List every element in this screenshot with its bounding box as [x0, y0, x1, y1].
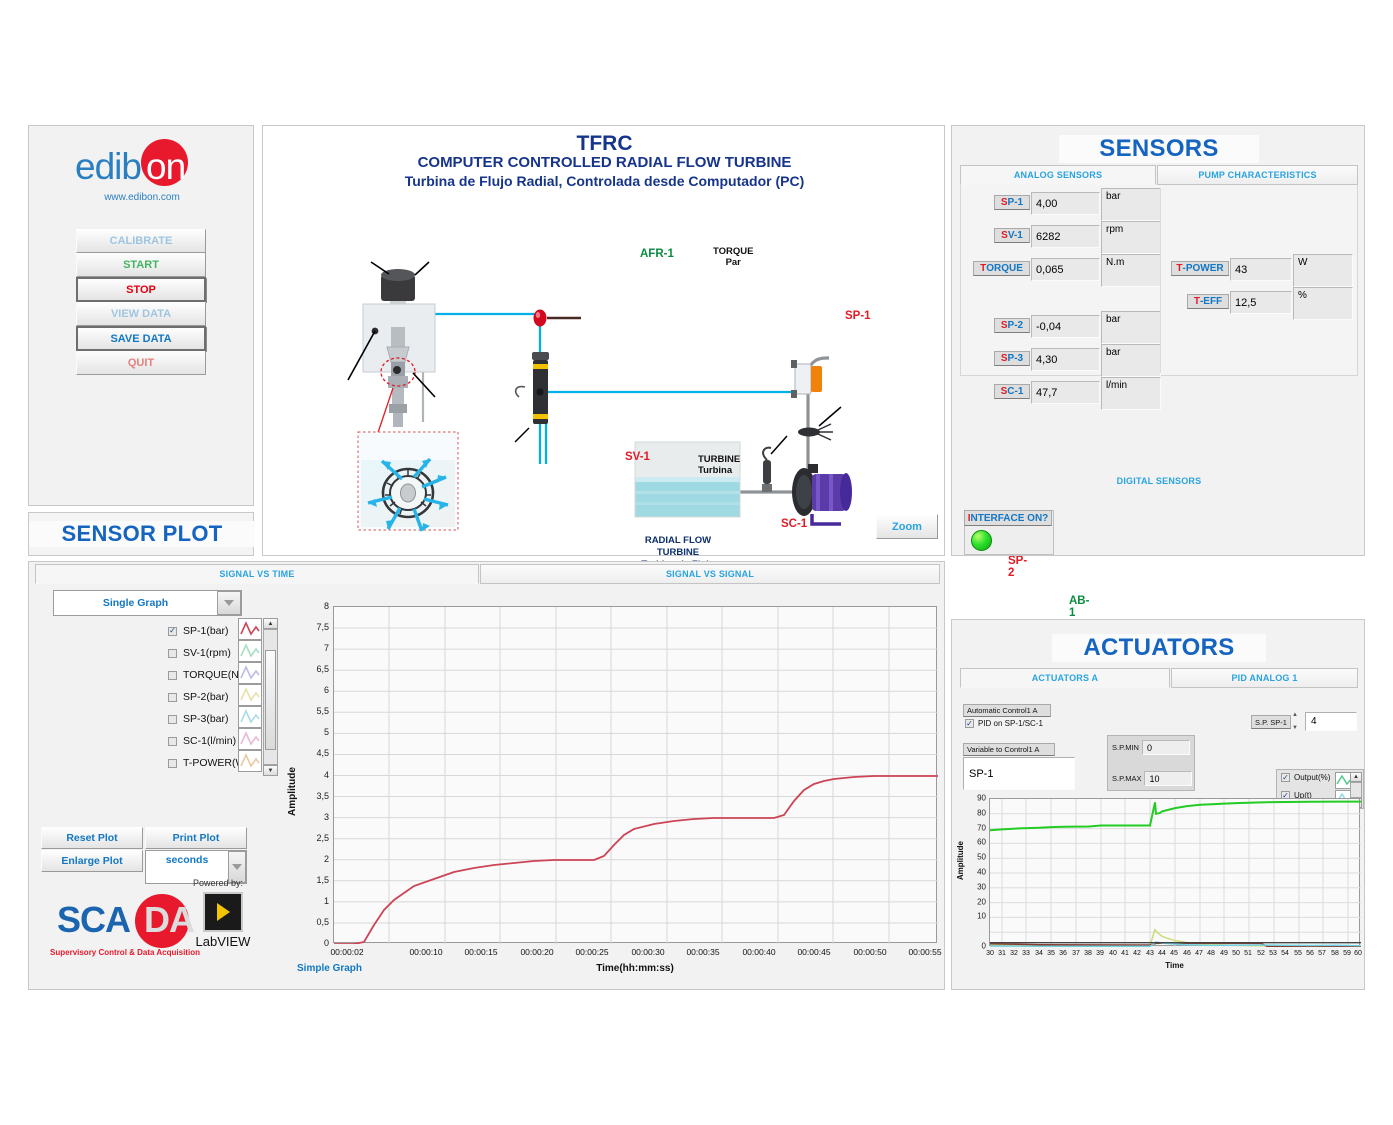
setpoint-value[interactable]: 4 [1305, 712, 1357, 731]
label-turbine: TURBINE Turbina [698, 454, 740, 476]
sp-max-row: S.P.MAX 10 [1112, 771, 1192, 786]
diagram-title: TFRC [263, 132, 946, 156]
sensor-unit-tpower: W [1293, 254, 1353, 287]
setpoint-label: S.P. SP-1 [1251, 715, 1291, 729]
legend-checkbox-torque[interactable] [168, 671, 177, 680]
label-ab1: AB-1 [1069, 595, 1089, 619]
view-data-button[interactable]: VIEW DATA [76, 302, 206, 326]
legend-label: Output(%) [1294, 773, 1330, 782]
setpoint-control: S.P. SP-1 ▲ ▼ 4 [1251, 712, 1357, 732]
sensor-unit-teff: % [1293, 287, 1353, 320]
sensors-panel: SENSORS ANALOG SENSORS PUMP CHARACTERIST… [951, 125, 1365, 556]
actuator-legend-scroll-up-arrow-icon[interactable]: ▲ [1350, 772, 1362, 782]
xtick: 00:00:30 [631, 947, 664, 957]
ytick: 0 [324, 938, 329, 948]
sensor-value-sp3: 4,30 [1031, 348, 1100, 371]
quit-button-label: QUIT [128, 357, 154, 369]
legend-color-swatches [238, 618, 262, 776]
reset-plot-button[interactable]: Reset Plot [41, 827, 143, 849]
ytick: 7,5 [316, 622, 329, 632]
xtick: 56 [1306, 950, 1314, 957]
xtick: 00:00:50 [853, 947, 886, 957]
labview-label: LabVIEW [189, 934, 257, 949]
label-torque-es: Par [713, 257, 753, 268]
xtick: 44 [1158, 950, 1166, 957]
start-button-label: START [123, 259, 159, 271]
scada-logo-text-sca: SCA [57, 899, 130, 941]
xtick: 38 [1084, 950, 1092, 957]
ytick: 80 [977, 809, 986, 818]
xtick: 57 [1318, 950, 1326, 957]
xtick: 00:00:10 [409, 947, 442, 957]
tab-pid-analog-1[interactable]: PID ANALOG 1 [1171, 668, 1358, 688]
sensor-unit-sc1: l/min [1101, 377, 1161, 410]
setpoint-limits-group: S.P.MIN 0 S.P.MAX 10 [1107, 735, 1195, 791]
calibrate-button-label: CALIBRATE [110, 235, 173, 247]
legend-checkbox-sv1[interactable] [168, 649, 177, 658]
main-plot-area[interactable] [333, 606, 937, 943]
save-data-button[interactable]: SAVE DATA [76, 326, 206, 351]
graph-mode-value: Single Graph [54, 591, 217, 615]
xtick: 37 [1072, 950, 1080, 957]
sp-min-value[interactable]: 0 [1142, 740, 1190, 755]
xtick: 54 [1281, 950, 1289, 957]
sensor-tag-teff: T-EFF [1187, 294, 1229, 309]
xtick: 35 [1047, 950, 1055, 957]
sensor-value-tpower: 43 [1230, 258, 1292, 281]
legend-scrollbar[interactable]: ▲ ▼ [263, 618, 278, 776]
legend-checkbox-tpower[interactable] [168, 759, 177, 768]
ytick: 90 [977, 794, 986, 803]
xtick: 52 [1257, 950, 1265, 957]
xtick: 00:00:15 [464, 947, 497, 957]
setpoint-stepper-down-icon[interactable]: ▼ [1292, 725, 1305, 732]
edibon-logo-text: edib [75, 146, 141, 188]
legend-label: SP-3(bar) [183, 713, 229, 725]
zoom-button[interactable]: Zoom [876, 514, 938, 539]
ytick: 3,5 [316, 791, 329, 801]
sensor-value-sp1: 4,00 [1031, 192, 1100, 215]
xtick: 51 [1244, 950, 1252, 957]
reset-plot-button-label: Reset Plot [66, 832, 117, 844]
print-plot-button[interactable]: Print Plot [145, 827, 247, 849]
tab-signal-vs-time-label: SIGNAL VS TIME [219, 569, 294, 579]
list-item[interactable]: ✓ Output(%) [1281, 773, 1330, 782]
scada-logo-text-da: DA [144, 899, 194, 941]
ytick: 4 [324, 770, 329, 780]
xtick: 55 [1294, 950, 1302, 957]
sensor-value-sv1: 6282 [1031, 225, 1100, 248]
interface-on-led [971, 530, 992, 551]
label-radial-inset-en: RADIAL FLOW TURBINE [629, 535, 727, 559]
sensor-tag-sp1: SP-1 [994, 195, 1030, 210]
control-button-list: CALIBRATE START STOP VIEW DATA SAVE DATA… [76, 229, 206, 375]
stop-button[interactable]: STOP [76, 277, 206, 302]
main-plot: Amplitude [287, 606, 937, 981]
sensor-plot-panel: SIGNAL VS TIME SIGNAL VS SIGNAL Single G… [28, 561, 945, 990]
view-data-button-label: VIEW DATA [111, 308, 171, 320]
xtick: 00:00:02 [330, 947, 363, 957]
ytick: 4,5 [316, 748, 329, 758]
sensor-tag-tpower: T-POWER [1171, 261, 1229, 276]
setpoint-stepper[interactable]: ▲ ▼ [1292, 712, 1305, 732]
radial-turbine-inset [358, 432, 458, 531]
zoom-button-label: Zoom [892, 521, 922, 533]
sensor-unit-sp1: bar [1101, 188, 1161, 221]
enlarge-plot-button[interactable]: Enlarge Plot [41, 850, 143, 872]
variable-to-control-value[interactable]: SP-1 [963, 757, 1075, 790]
ytick: 30 [977, 883, 986, 892]
legend-checkbox-sp3[interactable] [168, 715, 177, 724]
main-plot-xticks: 00:00:02 00:00:10 00:00:15 00:00:20 00:0… [333, 945, 937, 961]
print-plot-button-label: Print Plot [173, 832, 220, 844]
xtick: 59 [1343, 950, 1351, 957]
tab-signal-vs-signal-label: SIGNAL VS SIGNAL [666, 569, 754, 579]
ytick: 50 [977, 853, 986, 862]
sensor-plot-title-panel: SENSOR PLOT [28, 512, 254, 556]
ytick: 3 [324, 812, 329, 822]
quit-button[interactable]: QUIT [76, 351, 206, 375]
ytick: 8 [324, 601, 329, 611]
ytick: 5 [324, 727, 329, 737]
pid-checkbox[interactable]: ✓ [965, 719, 974, 728]
ytick: 60 [977, 838, 986, 847]
calibrate-button[interactable]: CALIBRATE [76, 229, 206, 253]
xtick: 41 [1121, 950, 1129, 957]
tab-signal-vs-signal[interactable]: SIGNAL VS SIGNAL [480, 564, 940, 584]
legend-label: SP-1(bar) [183, 625, 229, 637]
xtick: 32 [1010, 950, 1018, 957]
interface-on-indicator-group: INTERFACE ON? [964, 510, 1054, 555]
main-plot-status: Simple Graph [297, 963, 362, 974]
pump-graphic [792, 464, 852, 524]
labview-icon [203, 892, 243, 932]
xtick: 00:00:35 [686, 947, 719, 957]
ytick: 10 [977, 912, 986, 921]
sp-min-label: S.P.MIN [1112, 743, 1139, 752]
tab-signal-vs-time[interactable]: SIGNAL VS TIME [35, 564, 479, 584]
label-sp1: SP-1 [845, 310, 871, 322]
xtick: 48 [1207, 950, 1215, 957]
main-plot-svg [334, 607, 938, 944]
label-sp2: SP-2 [1008, 555, 1027, 579]
ytick: 7 [324, 643, 329, 653]
xtick: 33 [1022, 950, 1030, 957]
label-sv1: SV-1 [625, 451, 650, 463]
scada-logo: SCA DA Supervisory Control & Data Acquis… [41, 890, 246, 970]
automatic-control-label: Automatic Control1 A [963, 704, 1051, 717]
legend-scrollbar-track[interactable] [263, 629, 278, 765]
ytick: 20 [977, 898, 986, 907]
sensor-tag-sv1: SV-1 [994, 228, 1030, 243]
label-sc1: SC-1 [781, 518, 807, 530]
xtick: 50 [1232, 950, 1240, 957]
pid-checkbox-row[interactable]: ✓ PID on SP-1/SC-1 [965, 719, 1043, 728]
edibon-logo: edib on www.edibon.com [29, 132, 255, 206]
variable-to-control-label: Variable to Control1 A [963, 743, 1055, 756]
start-button[interactable]: START [76, 253, 206, 277]
sp-min-row: S.P.MIN 0 [1112, 740, 1190, 755]
stop-button-label: STOP [126, 284, 156, 296]
scada-logo-tagline: Supervisory Control & Data Acquisition [41, 948, 209, 957]
tab-pump-characteristics[interactable]: PUMP CHARACTERISTICS [1157, 165, 1358, 185]
label-torque-en: TORQUE [713, 246, 753, 257]
actuator-plot-xticks: 30 31 32 33 34 35 36 37 38 39 40 41 42 4… [989, 948, 1360, 960]
label-turbine-es: Turbina [698, 465, 740, 476]
tab-pid-analog-1-label: PID ANALOG 1 [1231, 673, 1297, 683]
sensors-title: SENSORS [1059, 135, 1259, 163]
sp-max-label: S.P.MAX [1112, 774, 1141, 783]
diagram-subtitle-es: Turbina de Flujo Radial, Controlada desd… [263, 173, 946, 189]
edibon-logo-text-right: on [146, 146, 185, 188]
ytick: 2 [324, 854, 329, 864]
tab-analog-sensors[interactable]: ANALOG SENSORS [960, 165, 1156, 185]
legend-scrollbar-thumb[interactable] [265, 650, 276, 750]
sensor-value-teff: 12,5 [1230, 291, 1292, 314]
control-panel: edib on www.edibon.com CALIBRATE START S… [28, 125, 254, 506]
xtick: 39 [1096, 950, 1104, 957]
actuator-plot-area[interactable] [989, 798, 1360, 946]
xtick: 30 [986, 950, 994, 957]
xtick: 58 [1331, 950, 1339, 957]
label-torque: TORQUE Par [713, 246, 753, 268]
legend-checkbox-sp1[interactable]: ✓ [168, 627, 177, 636]
xtick: 00:00:40 [742, 947, 775, 957]
tab-analog-sensors-label: ANALOG SENSORS [1014, 170, 1102, 180]
tab-pump-characteristics-label: PUMP CHARACTERISTICS [1198, 170, 1316, 180]
xtick: 00:00:45 [797, 947, 830, 957]
legend-label: SV-1(rpm) [183, 647, 231, 659]
sensor-plot-title: SENSOR PLOT [29, 521, 255, 547]
sensor-unit-sv1: rpm [1101, 221, 1161, 254]
ytick: 6,5 [316, 664, 329, 674]
legend-scroll-down-arrow-icon[interactable]: ▼ [263, 765, 278, 776]
edibon-website: www.edibon.com [29, 192, 255, 203]
setpoint-stepper-up-icon[interactable]: ▲ [1292, 712, 1305, 719]
sensor-value-torque: 0,065 [1031, 258, 1100, 281]
process-diagram-panel: TFRC COMPUTER CONTROLLED RADIAL FLOW TUR… [262, 125, 945, 556]
main-plot-yticks: 8 7,5 7 6,5 6 5,5 5 4,5 4 3,5 3 2,5 2 1,… [301, 606, 331, 943]
xtick: 60 [1354, 950, 1362, 957]
xtick: 49 [1220, 950, 1228, 957]
interface-on-label: INTERFACE ON? [964, 510, 1052, 526]
ytick: 6 [324, 685, 329, 695]
main-plot-ylabel: Amplitude [287, 716, 298, 816]
legend-label: SP-2(bar) [183, 691, 229, 703]
sensor-unit-torque: N.m [1101, 254, 1161, 287]
legend-scroll-up-arrow-icon[interactable]: ▲ [263, 618, 278, 629]
ytick: 5,5 [316, 706, 329, 716]
ytick: 0,5 [316, 917, 329, 927]
xtick: 47 [1195, 950, 1203, 957]
legend-checkbox-output[interactable]: ✓ [1281, 773, 1290, 782]
powered-by-label: Powered by: [193, 878, 243, 888]
diagram-subtitle-en: COMPUTER CONTROLLED RADIAL FLOW TURBINE [263, 154, 946, 171]
analog-sensors-group: SP-1 4,00 bar SV-1 6282 rpm [960, 185, 1358, 376]
graph-mode-chevron-down-icon[interactable] [217, 591, 241, 615]
label-afr1: AFR-1 [640, 248, 674, 260]
actuator-plot-xlabel: Time [989, 961, 1360, 970]
xtick: 34 [1035, 950, 1043, 957]
ytick: 70 [977, 824, 986, 833]
xtick: 36 [1059, 950, 1067, 957]
sensor-unit-sp3: bar [1101, 344, 1161, 377]
xtick: 00:00:20 [520, 947, 553, 957]
sensor-value-sc1: 47,7 [1031, 381, 1100, 404]
xtick: 43 [1146, 950, 1154, 957]
xtick: 31 [998, 950, 1006, 957]
xtick: 00:00:55 [908, 947, 941, 957]
sensor-unit-sp2: bar [1101, 311, 1161, 344]
sp-max-value[interactable]: 10 [1144, 771, 1192, 786]
enlarge-plot-button-label: Enlarge Plot [61, 855, 122, 867]
label-turbine-en: TURBINE [698, 454, 740, 465]
ytick: 1 [324, 896, 329, 906]
graph-mode-dropdown[interactable]: Single Graph [53, 590, 242, 616]
main-plot-xlabel: Time(hh:mm:ss) [333, 963, 937, 974]
xtick: 40 [1109, 950, 1117, 957]
sensors-group-divider [1160, 189, 1161, 373]
tab-actuators-a[interactable]: ACTUATORS A [960, 668, 1170, 688]
tab-actuators-a-label: ACTUATORS A [1032, 673, 1099, 683]
xtick: 00:00:25 [575, 947, 608, 957]
actuator-plot-yticks: 90 80 70 60 50 40 30 20 10 0 [964, 798, 988, 946]
xtick: 45 [1170, 950, 1178, 957]
pid-checkbox-label: PID on SP-1/SC-1 [978, 719, 1043, 728]
ytick: 1,5 [316, 875, 329, 885]
legend-checkbox-sc1[interactable] [168, 737, 177, 746]
digital-sensors-header: DIGITAL SENSORS [952, 476, 1366, 486]
actuators-title: ACTUATORS [1052, 634, 1266, 662]
sensor-tag-torque: TORQUE [973, 261, 1030, 276]
time-unit-value: seconds [146, 851, 228, 869]
legend-checkbox-sp2[interactable] [168, 693, 177, 702]
actuator-plot-svg [990, 799, 1361, 947]
xtick: 46 [1183, 950, 1191, 957]
sensor-tag-sc1: SC-1 [994, 384, 1030, 399]
actuators-panel: ACTUATORS ACTUATORS A PID ANALOG 1 Autom… [951, 619, 1365, 990]
xtick: 42 [1133, 950, 1141, 957]
save-data-button-label: SAVE DATA [110, 333, 171, 345]
sensor-tag-sp3: SP-3 [994, 351, 1030, 366]
process-schematic [263, 192, 946, 532]
ytick: 2,5 [316, 833, 329, 843]
xtick: 53 [1269, 950, 1277, 957]
sensor-tag-sp2: SP-2 [994, 318, 1030, 333]
ytick: 40 [977, 868, 986, 877]
actuator-plot: Amplitude [956, 796, 1362, 986]
legend-label: SC-1(l/min) [183, 735, 236, 747]
sensor-value-sp2: -0,04 [1031, 315, 1100, 338]
